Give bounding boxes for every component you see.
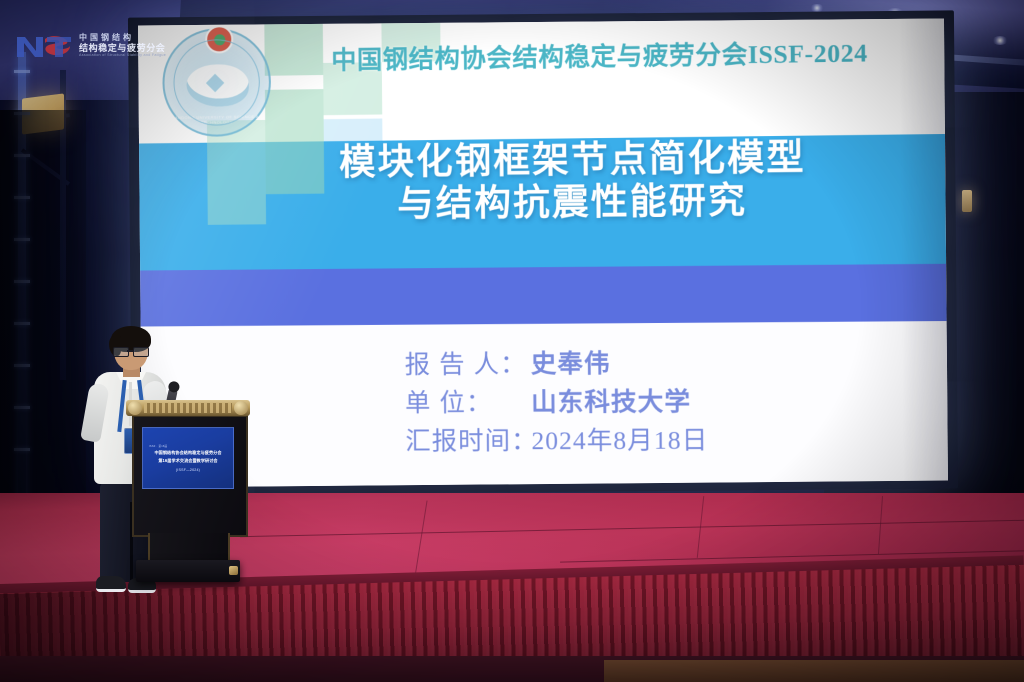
- podium-sign-line-3: (ISSF—2024): [176, 468, 200, 472]
- slide-mosaic-square: [264, 23, 323, 76]
- conference-photo-scene: SHANDONG UNIVERSITY OF SCIENCE AND TECHN…: [0, 0, 1024, 682]
- info-value-presenter: 史奉伟: [531, 350, 611, 379]
- watermark-line-1: 中国钢结构: [79, 34, 174, 43]
- slide-info-block: 报 告 人：史奉伟 单 位：山东科技大学 汇报时间：2024年8月18日: [405, 343, 941, 462]
- podium-top-trim: [126, 400, 250, 416]
- seal-emblem-icon: [205, 25, 233, 53]
- seal-swoosh-icon: [186, 64, 249, 107]
- glasses-icon: [113, 347, 149, 355]
- watermark-text: 中国钢结构 结构稳定与疲劳分会 Association of Structura…: [79, 34, 174, 58]
- slide-band-periwinkle: [140, 264, 948, 327]
- podium-body: ISSF · 第16届 中国钢结构协会结构稳定与疲劳分会 第16届学术交流会暨教…: [132, 415, 248, 537]
- info-label-presenter: 报 告 人：: [405, 345, 531, 384]
- presenter-shoe-left: [96, 576, 126, 592]
- podium-sign-line-1: 中国钢结构协会结构稳定与疲劳分会: [154, 450, 221, 456]
- podium-base: [136, 560, 240, 582]
- podium-sign: ISSF · 第16届 中国钢结构协会结构稳定与疲劳分会 第16届学术交流会暨教…: [142, 427, 234, 489]
- info-value-date: 2024年8月18日: [531, 427, 708, 455]
- nsst-logo-icon: [14, 31, 72, 61]
- podium: ISSF · 第16届 中国钢结构协会结构稳定与疲劳分会 第16届学术交流会暨教…: [130, 400, 246, 585]
- podium-sign-tiny-text: ISSF · 第16届: [149, 444, 167, 448]
- slide-title-line-2: 与结构抗震性能研究: [187, 177, 948, 228]
- floor-wood-strip: [604, 660, 1024, 682]
- slide-main-title: 模块化钢框架节点简化模型 与结构抗震性能研究: [139, 134, 948, 229]
- podium-base-accent: [229, 566, 238, 575]
- podium-top-pattern: [144, 403, 232, 413]
- left-dark-area: [0, 110, 86, 510]
- wall-accent-light: [962, 190, 972, 212]
- projection-screen: SHANDONG UNIVERSITY OF SCIENCE AND TECHN…: [138, 18, 948, 487]
- info-label-date: 汇报时间：: [405, 422, 531, 461]
- seal-ring-text: SHANDONG UNIVERSITY OF SCIENCE AND TECHN…: [165, 114, 269, 125]
- broadcast-watermark: 中国钢结构 结构稳定与疲劳分会 Association of Structura…: [14, 24, 204, 68]
- info-label-affiliation: 单 位：: [405, 383, 531, 422]
- ceiling-spot-light: [992, 36, 1008, 45]
- watermark-line-3: Association of Structural Stability and …: [79, 53, 166, 57]
- truss-rung: [14, 70, 30, 73]
- screen-surface: SHANDONG UNIVERSITY OF SCIENCE AND TECHN…: [138, 18, 948, 487]
- info-row-affiliation: 单 位：山东科技大学: [405, 381, 940, 422]
- slide-mosaic-square: [265, 89, 324, 142]
- podium-sign-line-2: 第16届学术交流会暨教学研讨会: [158, 458, 217, 464]
- info-row-date: 汇报时间：2024年8月18日: [405, 420, 940, 461]
- info-value-affiliation: 山东科技大学: [531, 388, 691, 417]
- info-row-presenter: 报 告 人：史奉伟: [405, 343, 940, 385]
- slide: SHANDONG UNIVERSITY OF SCIENCE AND TECHN…: [138, 18, 948, 487]
